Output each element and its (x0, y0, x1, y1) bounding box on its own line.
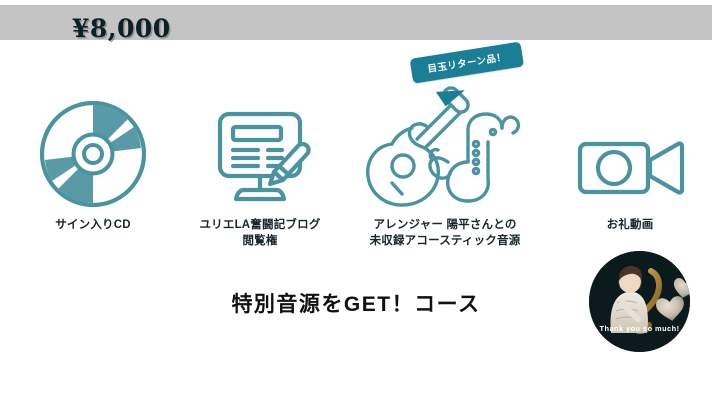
reward-art-blog (170, 82, 350, 212)
reward-art-acoustic: 目玉リターン品！ (330, 82, 560, 212)
reward-item-cd: サイン入りCD (0, 82, 186, 234)
caption-line-1: ユリエLA奮闘記ブログ (170, 218, 350, 234)
monitor-blog-pencil-icon (200, 102, 320, 212)
reward-caption-video: お礼動画 (548, 218, 712, 234)
video-camera-icon (570, 122, 690, 212)
reward-item-video: お礼動画 (548, 82, 712, 234)
reward-caption-cd: サイン入りCD (0, 218, 186, 234)
reward-art-video (548, 82, 712, 212)
reward-art-cd (0, 82, 186, 212)
eyecatch-badge: 目玉リターン品！ (410, 41, 525, 83)
rewards-row: サイン入りCD (0, 82, 712, 257)
reward-caption-blog: ユリエLA奮闘記ブログ 閲覧権 (170, 218, 350, 249)
badge-tail (436, 90, 466, 106)
caption-line-1: お礼動画 (548, 218, 712, 234)
reward-slide: ¥8,000 サイ (0, 0, 712, 400)
caption-line-2: 閲覧権 (170, 234, 350, 250)
caption-line-1: アレンジャー 陽平さんとの (330, 218, 560, 234)
cd-disc-icon (38, 97, 148, 212)
photo-artwork (589, 251, 690, 352)
price-amount: ¥8,000 (72, 14, 171, 43)
thank-you-text: Thank you so much! (589, 324, 690, 333)
caption-line-2: 未収録アコースティック音源 (330, 234, 560, 250)
reward-caption-acoustic: アレンジャー 陽平さんとの 未収録アコースティック音源 (330, 218, 560, 249)
caption-line-1: サイン入りCD (0, 218, 186, 234)
reward-item-acoustic: 目玉リターン品！ (330, 82, 560, 249)
reward-item-blog: ユリエLA奮闘記ブログ 閲覧権 (170, 82, 350, 249)
thank-you-photo: Thank you so much! (589, 251, 690, 352)
